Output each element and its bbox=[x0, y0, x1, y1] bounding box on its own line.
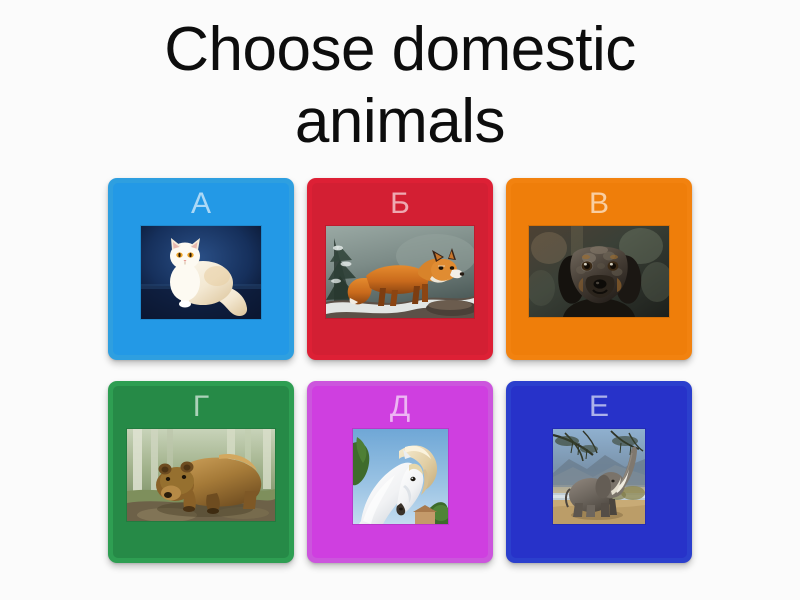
answer-option-c[interactable]: В bbox=[506, 178, 692, 360]
answer-image-f bbox=[553, 429, 645, 524]
answer-letter-d: Г bbox=[193, 390, 209, 424]
answer-card-face-b: Б bbox=[312, 183, 488, 355]
answer-image-e bbox=[353, 429, 448, 524]
answer-letter-b: Б bbox=[390, 187, 410, 221]
answer-image-d bbox=[127, 429, 275, 521]
answer-image-c bbox=[529, 226, 669, 317]
answer-option-e[interactable]: Д bbox=[307, 381, 493, 563]
answer-card-face-e: Д bbox=[312, 386, 488, 558]
answer-letter-f: Е bbox=[589, 390, 609, 424]
answer-image-a bbox=[141, 226, 261, 319]
answer-image-b bbox=[326, 226, 474, 318]
answer-option-f[interactable]: Е bbox=[506, 381, 692, 563]
answer-letter-e: Д bbox=[390, 390, 410, 424]
answer-option-d[interactable]: Г bbox=[108, 381, 294, 563]
answer-letter-c: В bbox=[589, 187, 609, 221]
answer-card-face-c: В bbox=[511, 183, 687, 355]
answer-option-a[interactable]: А bbox=[108, 178, 294, 360]
answer-option-b[interactable]: Б bbox=[307, 178, 493, 360]
answer-letter-a: А bbox=[191, 187, 211, 221]
answer-card-face-a: А bbox=[113, 183, 289, 355]
answer-options-grid: А bbox=[108, 178, 692, 570]
answer-card-face-f: Е bbox=[511, 386, 687, 558]
page-title: Choose domestic animals bbox=[0, 14, 800, 158]
answer-card-face-d: Г bbox=[113, 386, 289, 558]
